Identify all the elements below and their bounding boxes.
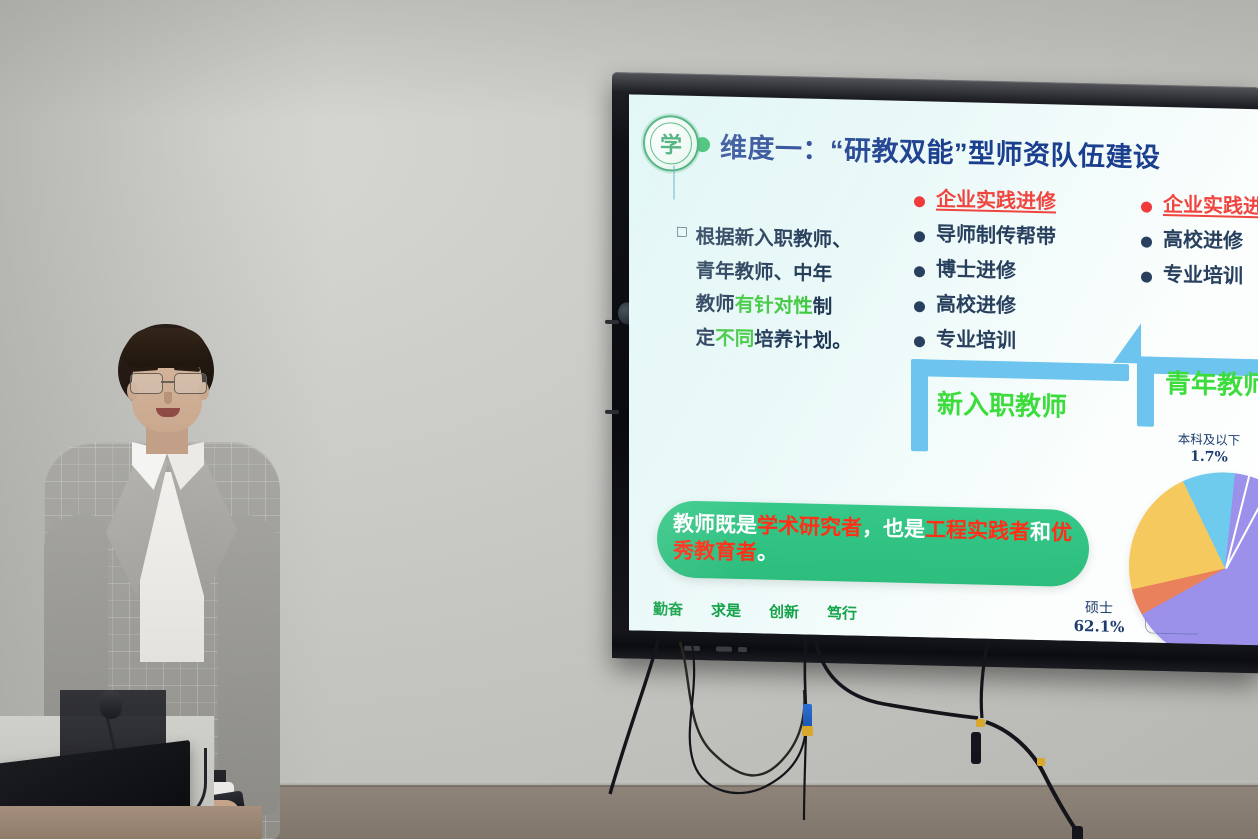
bullet-dot-icon [914,196,925,207]
list-item: 企业实践进修 [1141,194,1258,219]
banner-suffix: 。 [757,542,778,565]
gold-connector-icon [1037,758,1045,766]
seal-connector-line [673,165,675,199]
bullet-dot-icon [914,336,925,347]
hair-fringe [124,328,208,368]
banner-prefix: 教师既是 [673,512,757,537]
left-line-3c: 制 [813,296,833,318]
young-teacher-column: 企业实践进修 高校进修 专业培训 [1141,194,1258,303]
footer-motto: 勤奋 求是 创新 笃行 [653,598,857,624]
pie-label-bachelor-value: 1.7% [1149,447,1258,468]
list-item: 高校进修 [914,294,1104,319]
display-screen[interactable]: 学 维度一：“研教双能”型师资队伍建设 □ 根据新入职教师、 青年教师、中年 教… [629,94,1258,645]
glasses-bridge [161,381,174,383]
left-line-4b: 不同 [715,327,754,350]
list-item: 博士进修 [914,259,1104,284]
bracket-vertical-icon [1137,356,1154,426]
desk-surface [0,806,262,839]
bullet-dot-icon [1141,236,1152,247]
pie-label-bachelor-name: 本科及以下 [1178,431,1241,447]
lens-left [130,373,163,394]
left-line-3a: 教师 [696,293,735,316]
lens-right [174,373,207,394]
group-tag-new-teacher: 新入职教师 [937,390,1067,421]
list-item: 企业实践进修 [914,189,1104,214]
interactive-display[interactable]: 学 维度一：“研教双能”型师资队伍建设 □ 根据新入职教师、 青年教师、中年 教… [612,72,1258,673]
banner-red-2: 工程实践者 [925,518,1030,543]
list-item-label: 高校进修 [1163,230,1243,253]
side-port-icon[interactable] [605,410,619,414]
slide-canvas: 学 维度一：“研教双能”型师资队伍建设 □ 根据新入职教师、 青年教师、中年 教… [629,94,1258,645]
gold-connector-icon [802,726,813,736]
seal-glyph: 学 [645,117,697,170]
page-title: 维度一：“研教双能”型师资队伍建设 [720,125,1161,174]
list-item-label: 博士进修 [936,260,1016,283]
bullet-dot-icon [914,231,925,242]
list-item-label: 导师制传帮带 [936,225,1056,249]
list-item-label: 高校进修 [936,295,1016,318]
banner-mid: ，也是 [862,517,925,541]
slide-header: 学 维度一：“研教双能”型师资队伍建设 [643,115,1250,185]
summary-banner-text: 教师既是学术研究者，也是工程实践者和优秀教育者。 [673,510,1073,574]
group-tag-young-teacher: 青年教师 [1165,369,1258,400]
square-bullet-icon: □ [677,223,687,355]
left-paragraph: 根据新入职教师、 青年教师、中年 教师有针对性制 定不同培养计划。 [696,221,852,359]
eyeglasses-icon [129,373,207,392]
list-item: 导师制传帮带 [914,224,1104,249]
summary-banner: 教师既是学术研究者，也是工程实践者和优秀教育者。 [657,500,1089,587]
motto-word: 创新 [769,601,799,623]
left-line-1: 根据新入职教师、 [696,226,852,252]
bullet-dot-icon [1141,201,1152,212]
left-line-2: 青年教师、中年 [696,260,833,285]
banner-red-1: 学术研究者 [757,514,862,539]
bracket-vertical-icon [911,359,928,451]
gold-connector-icon [976,719,985,727]
list-item-label: 企业实践进修 [1163,195,1258,219]
bullet-dot-icon [914,301,925,312]
left-line-4a: 定 [696,327,716,349]
university-seal-icon: 学 [643,115,699,172]
side-port-icon[interactable] [605,320,619,324]
list-item-label: 专业培训 [936,330,1016,353]
pie-leader-line [1145,619,1198,635]
black-plug-icon [971,732,981,764]
pie-label-master: 硕士 62.1% [1051,598,1147,638]
list-item: 高校进修 [1141,229,1258,254]
bullet-dot-icon [1141,271,1152,282]
left-line-4c: 培养计划。 [754,328,852,352]
motto-word: 勤奋 [653,598,683,620]
pie-label-bachelor: 本科及以下 1.7% [1149,431,1258,468]
presentation-room-scene: 学 维度一：“研教双能”型师资队伍建设 □ 根据新入职教师、 青年教师、中年 教… [0,0,1258,839]
motto-word: 笃行 [827,602,857,624]
new-teacher-column: 企业实践进修 导师制传帮带 博士进修 高校进修 [914,189,1104,368]
microphone-icon [100,690,122,719]
black-plug-icon [1072,826,1083,839]
bullet-dot-icon [914,266,925,277]
cable-connectors [600,634,1258,839]
right-sleeve [218,515,280,815]
banner-and: 和 [1030,521,1051,544]
pie-label-master-name: 硕士 [1085,600,1113,617]
education-pie-chart: 本科及以下 1.7% 硕士 62.1% [1099,423,1258,645]
left-line-3b: 有针对性 [735,294,813,318]
motto-word: 求是 [711,599,741,621]
list-item: 专业培训 [1141,264,1258,289]
list-item-label: 企业实践进修 [936,190,1056,214]
left-text-block: □ 根据新入职教师、 青年教师、中年 教师有针对性制 定不同培养计划。 [677,221,892,360]
list-item-label: 专业培训 [1163,265,1243,288]
nose [164,392,172,404]
list-item: 专业培训 [914,329,1104,354]
